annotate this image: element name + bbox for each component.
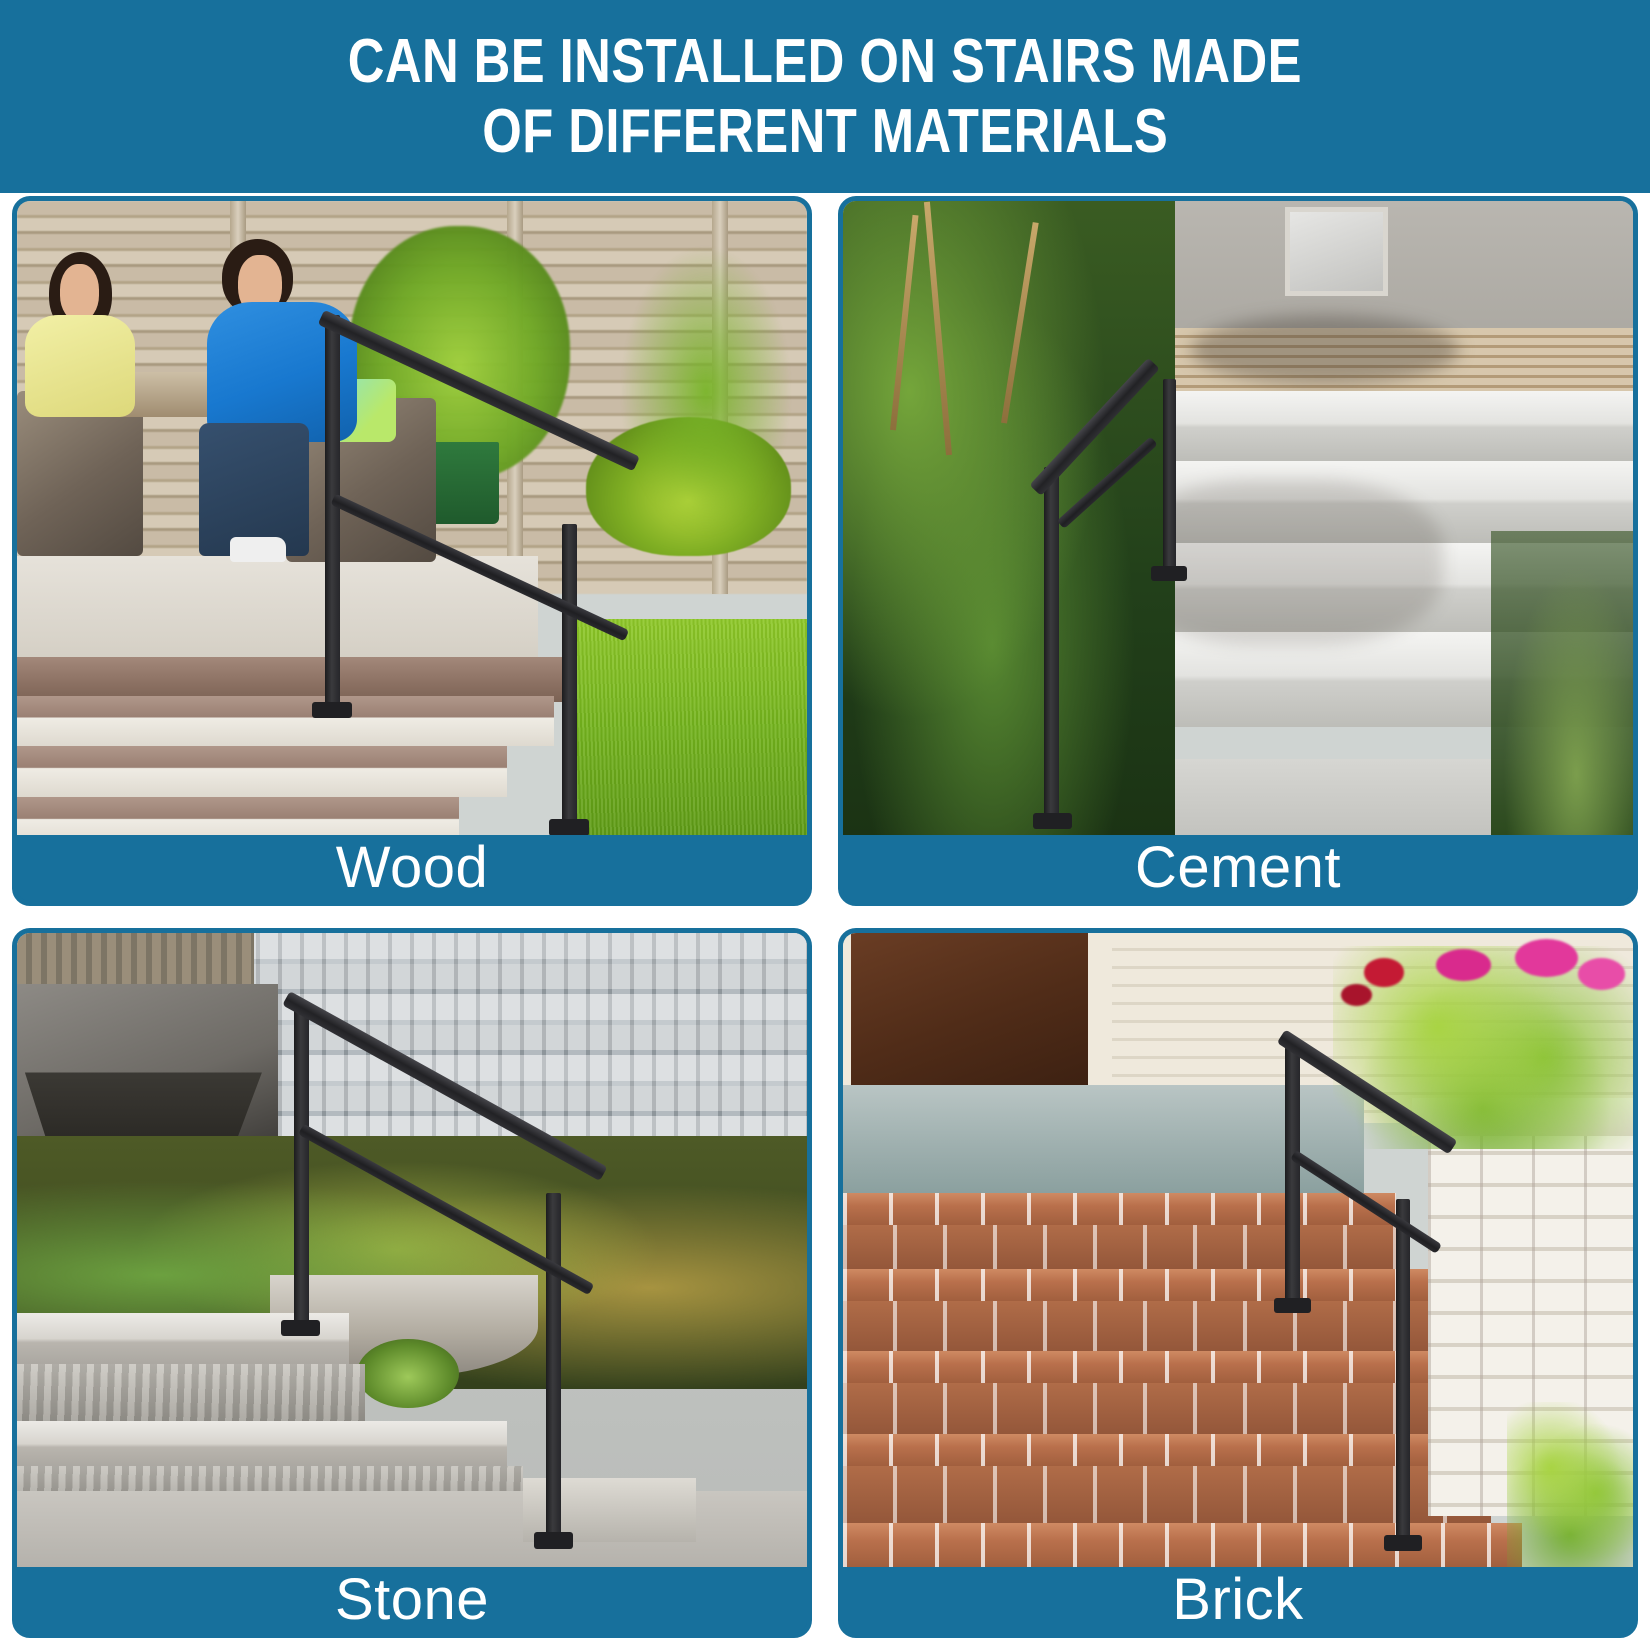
brick-flower-red-b — [1341, 984, 1373, 1006]
cement-left-foliage — [843, 201, 1175, 835]
cement-handrail-foot-upper — [1151, 566, 1187, 581]
brick-step-2-tread — [843, 1269, 1428, 1301]
panel-cement-caption: Cement — [843, 835, 1633, 901]
brick-step-3-riser — [843, 1383, 1459, 1434]
panel-brick-caption: Brick — [843, 1567, 1633, 1633]
brick-front-door — [851, 933, 1088, 1085]
brick-lower-shrub — [1507, 1402, 1633, 1567]
brick-step-3-tread — [843, 1351, 1459, 1383]
panel-stone[interactable]: Stone — [12, 928, 812, 1638]
brick-step-4-tread — [843, 1434, 1491, 1466]
cement-handrail-foot-lower — [1033, 813, 1073, 829]
cement-handrail-post-upper — [1163, 379, 1176, 582]
panel-brick-photo — [843, 933, 1633, 1567]
stone-handrail-foot-lower — [534, 1532, 574, 1548]
wood-person-b-shoe — [230, 537, 285, 562]
cement-window — [1285, 207, 1388, 296]
brick-handrail-post-upper — [1285, 1047, 1299, 1313]
brick-flower-pink-b — [1436, 949, 1491, 981]
wood-person-a-face — [60, 264, 100, 321]
wood-hedge — [602, 214, 792, 569]
wood-person-a-top — [25, 315, 136, 416]
wood-green-planter — [428, 442, 499, 524]
brick-step-1-tread — [843, 1193, 1396, 1225]
wood-handrail-post-upper — [325, 315, 340, 714]
wood-step-1 — [17, 696, 554, 747]
panel-stone-photo — [17, 933, 807, 1567]
panel-brick[interactable]: Brick — [838, 928, 1638, 1638]
brick-handrail-foot-upper — [1274, 1298, 1312, 1313]
stone-handrail-post-upper — [294, 1003, 309, 1333]
header-title-line-1: CAN BE INSTALLED ON STAIRS MADE — [348, 27, 1302, 97]
brick-flower-pink-c — [1578, 958, 1625, 990]
stone-landing-riser — [17, 1364, 365, 1421]
panel-wood-photo — [17, 201, 807, 835]
wood-handrail-post-lower — [562, 524, 577, 835]
brick-step-2-riser — [843, 1301, 1428, 1352]
panel-stone-caption: Stone — [17, 1567, 807, 1633]
header-banner: CAN BE INSTALLED ON STAIRS MADE OF DIFFE… — [0, 0, 1650, 193]
brick-flower-pink-a — [1515, 939, 1578, 977]
brick-flower-red-a — [1364, 958, 1404, 987]
stone-handrail-post-lower — [546, 1193, 561, 1548]
panel-wood[interactable]: Wood — [12, 196, 812, 906]
wood-step-3 — [17, 797, 459, 835]
cement-handrail-post-lower — [1044, 467, 1058, 828]
brick-step-1-riser — [843, 1225, 1396, 1269]
panel-wood-caption: Wood — [17, 835, 807, 901]
panel-cement[interactable]: Cement — [838, 196, 1638, 906]
panel-cement-photo — [843, 201, 1633, 835]
stone-handrail-foot-upper — [281, 1320, 321, 1336]
header-title-line-2: OF DIFFERENT MATERIALS — [482, 97, 1168, 167]
wood-handrail-foot-upper — [312, 702, 352, 718]
cement-right-grass — [1491, 531, 1633, 835]
wood-handrail-foot-lower — [549, 819, 589, 835]
cement-shadow-upper — [1191, 315, 1460, 385]
infographic-root: CAN BE INSTALLED ON STAIRS MADE OF DIFFE… — [0, 0, 1650, 1650]
brick-handrail-foot-lower — [1384, 1535, 1422, 1550]
cement-step-1 — [1112, 391, 1633, 461]
wood-step-2 — [17, 746, 507, 797]
brick-step-4-riser — [843, 1466, 1491, 1523]
material-panel-grid: Wood — [12, 196, 1638, 1638]
brick-handrail-post-lower — [1396, 1199, 1410, 1548]
wood-lawn — [570, 619, 807, 835]
